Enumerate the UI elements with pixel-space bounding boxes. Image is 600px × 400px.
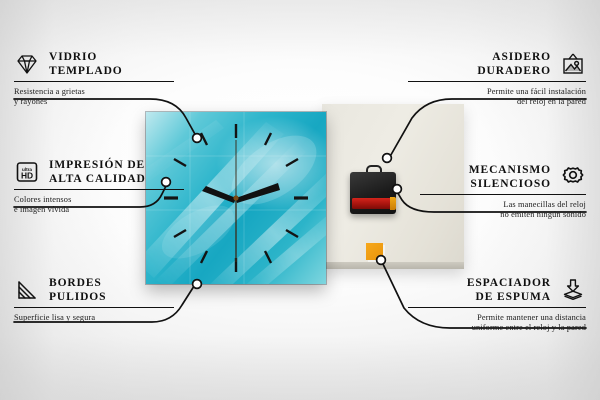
feature-desc-line1: Resistencia a grietas	[14, 87, 85, 96]
feature-description: Permite una fácil instalación del reloj …	[408, 87, 586, 108]
hanging-frame-icon	[560, 52, 586, 76]
feature-desc-line2: e imagen vívida	[14, 205, 69, 214]
feature-description: Superficie lisa y segura	[14, 313, 192, 324]
feature-impresion-alta-calidad: ultra HD IMPRESIÓN DE ALTA CALIDAD Color…	[14, 158, 192, 216]
feature-description: Resistencia a grietas y rayones	[14, 87, 192, 108]
feature-divider	[14, 307, 174, 309]
feature-title-line2: DE ESPUMA	[467, 290, 551, 304]
svg-text:HD: HD	[21, 171, 33, 181]
feature-divider	[408, 81, 586, 83]
feature-desc-line1: Las manecillas del reloj	[503, 200, 586, 209]
feature-title: IMPRESIÓN DE ALTA CALIDAD	[49, 158, 146, 186]
foam-spacer	[366, 243, 383, 260]
feature-header: VIDRIO TEMPLADO	[14, 50, 192, 78]
feature-asidero-duradero: ASIDERO DURADERO Permite una fácil insta…	[408, 50, 586, 108]
feature-desc-line1: Colores intensos	[14, 195, 71, 204]
feature-title: BORDES PULIDOS	[49, 276, 106, 304]
feature-bordes-pulidos: BORDES PULIDOS Superficie lisa y segura	[14, 276, 192, 323]
feature-desc-line1: Permite mantener una distancia	[477, 313, 586, 322]
feature-title-line2: TEMPLADO	[49, 64, 123, 78]
feature-description: Permite mantener una distancia uniforme …	[408, 313, 586, 334]
polished-edges-icon	[14, 278, 40, 302]
feature-description: Las manecillas del reloj no emiten ningú…	[408, 200, 586, 221]
feature-desc-line2: del reloj en la pared	[517, 97, 586, 106]
feature-title-line2: PULIDOS	[49, 290, 106, 304]
battery	[352, 198, 394, 209]
diamond-icon	[14, 52, 40, 76]
gear-icon	[560, 165, 586, 189]
feature-description: Colores intensos e imagen vívida	[14, 195, 192, 216]
feature-header: ultra HD IMPRESIÓN DE ALTA CALIDAD	[14, 158, 192, 186]
foam-spacer-icon	[560, 278, 586, 302]
feature-title-line2: DURADERO	[477, 64, 551, 78]
feature-mecanismo-silencioso: MECANISMO SILENCIOSO Las manecillas del …	[408, 163, 586, 221]
feature-desc-line2: uniforme entre el reloj y la pared	[472, 323, 586, 332]
feature-header: ESPACIADOR DE ESPUMA	[408, 276, 586, 304]
feature-desc-line2: no emiten ningún sonido	[500, 210, 586, 219]
feature-divider	[14, 189, 184, 191]
feature-divider	[420, 194, 586, 196]
battery-positive-tip	[390, 197, 396, 210]
feature-title: ASIDERO DURADERO	[477, 50, 551, 78]
feature-desc-line1: Permite una fácil instalación	[487, 87, 586, 96]
feature-title-line1: MECANISMO	[469, 164, 551, 176]
feature-desc-line2: y rayones	[14, 97, 47, 106]
feature-header: BORDES PULIDOS	[14, 276, 192, 304]
feature-espaciador-de-espuma: ESPACIADOR DE ESPUMA Permite mantener un…	[408, 276, 586, 334]
feature-title: MECANISMO SILENCIOSO	[469, 163, 551, 191]
feature-header: ASIDERO DURADERO	[408, 50, 586, 78]
wall-panel-edge	[322, 262, 464, 269]
feature-title-line1: IMPRESIÓN DE	[49, 159, 145, 171]
ultra-hd-icon: ultra HD	[14, 160, 40, 184]
feature-vidrio-templado: VIDRIO TEMPLADO Resistencia a grietas y …	[14, 50, 192, 108]
feature-title-line2: SILENCIOSO	[469, 177, 551, 191]
feature-divider	[408, 307, 586, 309]
feature-title-line1: ESPACIADOR	[467, 277, 551, 289]
feature-title-line1: VIDRIO	[49, 51, 97, 63]
feature-header: MECANISMO SILENCIOSO	[408, 163, 586, 191]
feature-title-line1: ASIDERO	[492, 51, 551, 63]
feature-title: VIDRIO TEMPLADO	[49, 50, 123, 78]
feature-title-line2: ALTA CALIDAD	[49, 172, 146, 186]
feature-divider	[14, 81, 174, 83]
feature-desc-line1: Superficie lisa y segura	[14, 313, 95, 322]
feature-title-line1: BORDES	[49, 277, 102, 289]
feature-title: ESPACIADOR DE ESPUMA	[467, 276, 551, 304]
